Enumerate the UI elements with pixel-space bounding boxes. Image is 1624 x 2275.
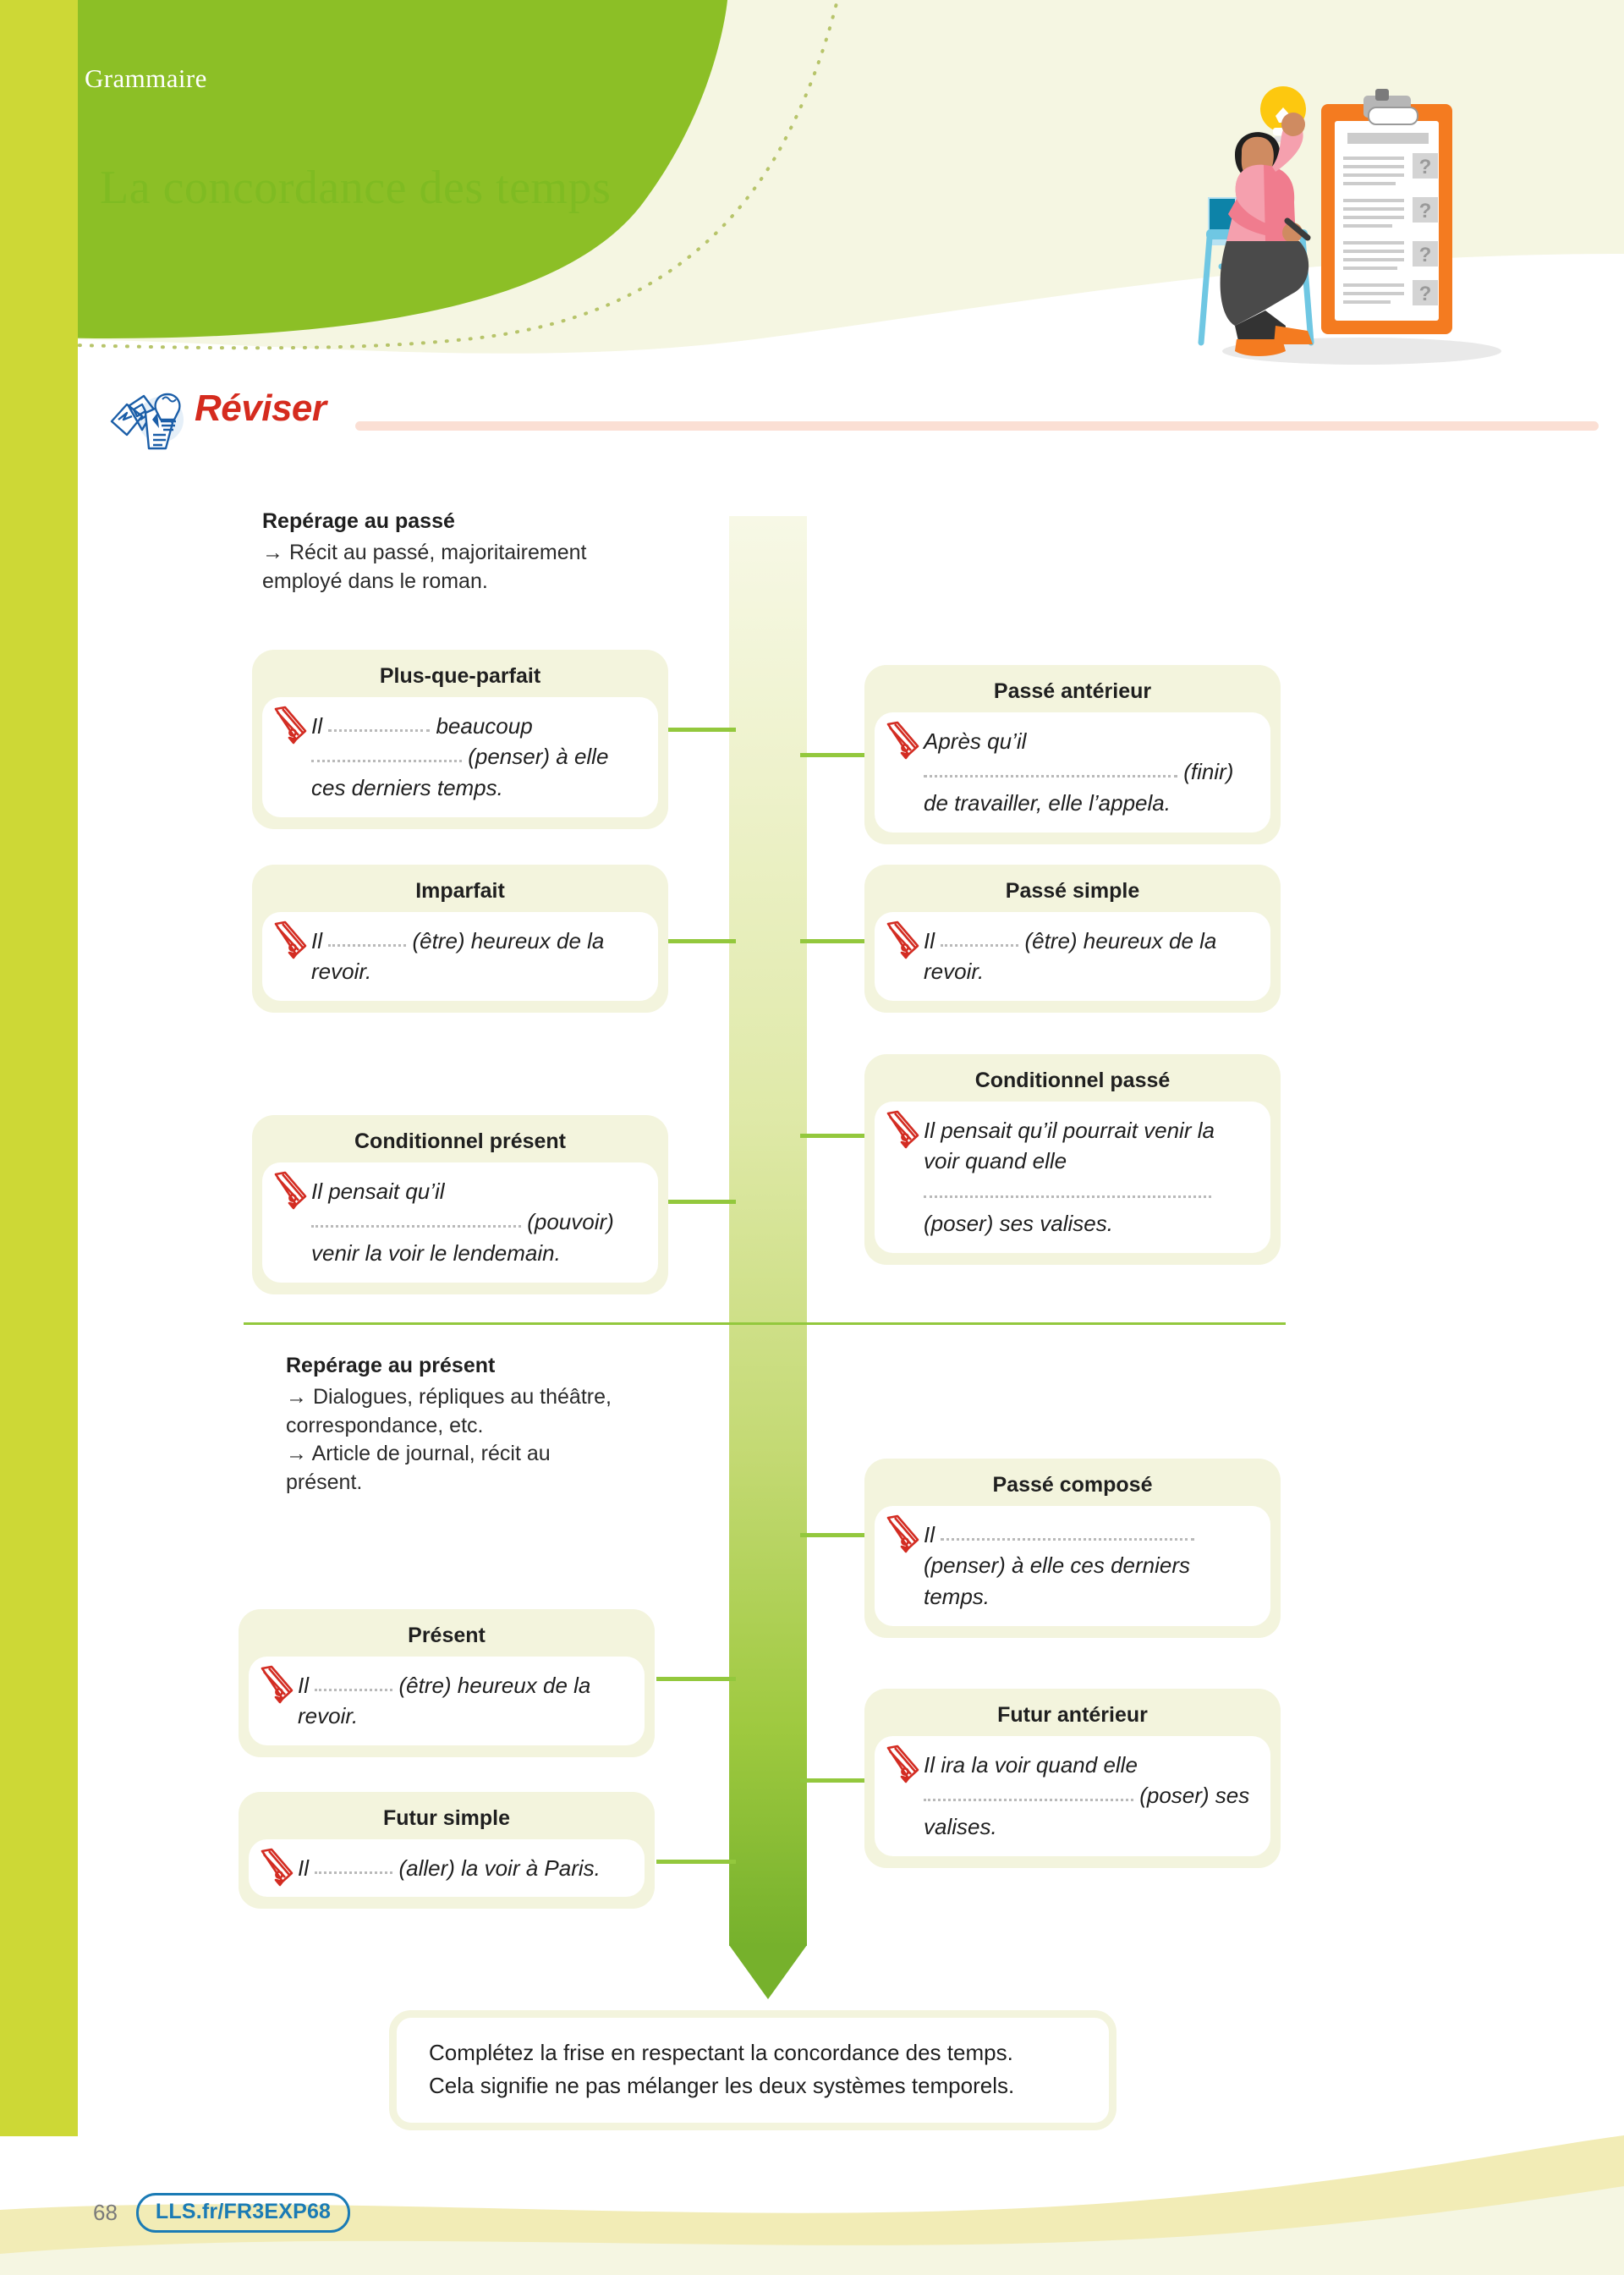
card-plus-que-parfait[interactable]: Plus-que-parfait Il beaucoup (penser) à … bbox=[252, 650, 668, 829]
instruction-line-1: Complétez la frise en respectant la conc… bbox=[429, 2036, 1084, 2069]
connector-passe-compose bbox=[800, 1533, 864, 1537]
intro-title-passe: Repérage au passé bbox=[262, 508, 601, 536]
card-body: Il (être) heureux de la revoir. bbox=[262, 912, 658, 1002]
intro-body-passe: → Récit au passé, majoritairement employ… bbox=[262, 539, 601, 596]
card-title: Passé antérieur bbox=[875, 673, 1270, 712]
card-title: Passé composé bbox=[875, 1467, 1270, 1506]
card-futur-simple[interactable]: Futur simple Il (aller) la voir à Paris. bbox=[239, 1792, 655, 1909]
svg-text:?: ? bbox=[1419, 244, 1432, 267]
intro-block-present: Repérage au présent → Dialogues, répliqu… bbox=[286, 1352, 624, 1497]
timeline-arrow-head bbox=[729, 1945, 807, 1999]
intro-title-present: Repérage au présent bbox=[286, 1352, 624, 1380]
card-sentence: Il (être) heureux de la revoir. bbox=[298, 1673, 590, 1729]
pencil-icon bbox=[257, 1848, 294, 1887]
fill-in-blank[interactable] bbox=[315, 1678, 392, 1691]
fill-in-blank[interactable] bbox=[315, 1860, 392, 1874]
pencil-icon bbox=[883, 1110, 920, 1149]
fill-in-blank[interactable] bbox=[941, 933, 1018, 947]
card-body: Il beaucoup (penser) à elle ces derniers… bbox=[262, 697, 658, 818]
fill-in-blank[interactable] bbox=[311, 1214, 521, 1228]
card-body: Après qu’il (finir) de travailler, elle … bbox=[875, 712, 1270, 833]
pencil-icon bbox=[883, 1514, 920, 1553]
svg-text:?: ? bbox=[1419, 283, 1432, 305]
page-header: Grammaire La concordance des temps bbox=[0, 0, 1624, 364]
page-footer: 68 LLS.fr/FR3EXP68 bbox=[93, 2193, 350, 2232]
card-body: Il (penser) à elle ces derniers temps. bbox=[875, 1506, 1270, 1627]
card-sentence: Il (être) heureux de la revoir. bbox=[311, 928, 604, 985]
card-imparfait[interactable]: Imparfait Il (être) heureux de la revoir… bbox=[252, 865, 668, 1013]
instruction-line-2: Cela signifie ne pas mélanger les deux s… bbox=[429, 2069, 1084, 2102]
intro-block-passe: Repérage au passé → Récit au passé, majo… bbox=[262, 508, 601, 596]
reviser-band: Réviser bbox=[93, 372, 1531, 465]
fill-in-blank[interactable] bbox=[311, 749, 462, 762]
card-conditionnel-passe[interactable]: Conditionnel passé Il pensait qu’il pour… bbox=[864, 1054, 1281, 1265]
svg-text:?: ? bbox=[1419, 200, 1432, 223]
fill-in-blank[interactable] bbox=[328, 718, 430, 732]
card-title: Plus-que-parfait bbox=[262, 658, 658, 697]
connector-conditionnel-passe bbox=[800, 1134, 864, 1138]
student-at-desk-with-clipboard-illustration: ?? ?? bbox=[1184, 72, 1522, 376]
section-divider-rule bbox=[244, 1322, 1286, 1325]
connector-plus-que-parfait bbox=[668, 728, 736, 732]
card-title: Présent bbox=[249, 1618, 645, 1657]
card-sentence: Il (aller) la voir à Paris. bbox=[298, 1855, 601, 1881]
card-passe-simple[interactable]: Passé simple Il (être) heureux de la rev… bbox=[864, 865, 1281, 1013]
books-and-lightbulb-icon bbox=[108, 387, 193, 453]
card-futur-anterieur[interactable]: Futur antérieur Il ira la voir quand ell… bbox=[864, 1689, 1281, 1868]
card-title: Futur simple bbox=[249, 1800, 645, 1839]
card-sentence: Il pensait qu’il pourrait venir la voir … bbox=[924, 1118, 1215, 1237]
instruction-box: Complétez la frise en respectant la conc… bbox=[389, 2010, 1116, 2130]
pencil-icon bbox=[271, 920, 308, 959]
card-sentence: Il (être) heureux de la revoir. bbox=[924, 928, 1216, 985]
lls-resource-code[interactable]: LLS.fr/FR3EXP68 bbox=[136, 2193, 350, 2233]
breadcrumb-subject: Grammaire bbox=[85, 63, 207, 94]
card-present[interactable]: Présent Il (être) heureux de la revoir. bbox=[239, 1609, 655, 1757]
card-body: Il (être) heureux de la revoir. bbox=[875, 912, 1270, 1002]
textbook-page: Grammaire La concordance des temps bbox=[0, 0, 1624, 2275]
connector-passe-simple bbox=[800, 939, 864, 943]
connector-conditionnel-present bbox=[668, 1200, 736, 1204]
pencil-icon bbox=[257, 1665, 294, 1704]
connector-passe-anterieur bbox=[800, 753, 864, 757]
fill-in-blank[interactable] bbox=[924, 1788, 1133, 1801]
card-body: Il pensait qu’il pourrait venir la voir … bbox=[875, 1102, 1270, 1254]
reviser-underline-rule bbox=[355, 421, 1599, 431]
card-title: Passé simple bbox=[875, 873, 1270, 912]
card-sentence: Il beaucoup (penser) à elle ces derniers… bbox=[311, 713, 608, 801]
card-passe-compose[interactable]: Passé composé Il (penser) à elle ces der… bbox=[864, 1459, 1281, 1638]
pencil-icon bbox=[271, 1171, 308, 1210]
fill-in-blank[interactable] bbox=[941, 1527, 1194, 1541]
card-sentence: Il pensait qu’il (pouvoir) venir la voir… bbox=[311, 1179, 614, 1267]
card-title: Conditionnel présent bbox=[262, 1124, 658, 1162]
pencil-icon bbox=[883, 1745, 920, 1783]
card-title: Imparfait bbox=[262, 873, 658, 912]
card-body: Il pensait qu’il (pouvoir) venir la voir… bbox=[262, 1162, 658, 1283]
card-title: Futur antérieur bbox=[875, 1697, 1270, 1736]
svg-text:?: ? bbox=[1419, 156, 1432, 179]
connector-futur-anterieur bbox=[800, 1778, 864, 1783]
card-body: Il ira la voir quand elle (poser) ses va… bbox=[875, 1736, 1270, 1857]
fill-in-blank[interactable] bbox=[924, 1184, 1211, 1198]
timeline-vertical-bar bbox=[729, 516, 807, 1946]
reviser-label: Réviser bbox=[195, 387, 326, 430]
card-conditionnel-present[interactable]: Conditionnel présent Il pensait qu’il (p… bbox=[252, 1115, 668, 1294]
card-body: Il (être) heureux de la revoir. bbox=[249, 1657, 645, 1746]
card-sentence: Il (penser) à elle ces derniers temps. bbox=[924, 1522, 1194, 1610]
connector-futur-simple bbox=[656, 1860, 736, 1864]
pencil-icon bbox=[271, 706, 308, 745]
connector-present bbox=[656, 1677, 736, 1681]
page-title: La concordance des temps bbox=[100, 161, 611, 215]
intro-body-present: → Dialogues, répliques au théâtre, corre… bbox=[286, 1383, 624, 1497]
card-title: Conditionnel passé bbox=[875, 1063, 1270, 1102]
card-body: Il (aller) la voir à Paris. bbox=[249, 1839, 645, 1898]
connector-imparfait bbox=[661, 939, 736, 943]
pencil-icon bbox=[883, 920, 920, 959]
page-number: 68 bbox=[93, 2200, 118, 2226]
card-passe-anterieur[interactable]: Passé antérieur Après qu’il (finir) de t… bbox=[864, 665, 1281, 844]
fill-in-blank[interactable] bbox=[924, 764, 1177, 778]
pencil-icon bbox=[883, 721, 920, 760]
fill-in-blank[interactable] bbox=[328, 933, 406, 947]
card-sentence: Il ira la voir quand elle (poser) ses va… bbox=[924, 1752, 1249, 1840]
card-sentence: Après qu’il (finir) de travailler, elle … bbox=[924, 728, 1233, 816]
